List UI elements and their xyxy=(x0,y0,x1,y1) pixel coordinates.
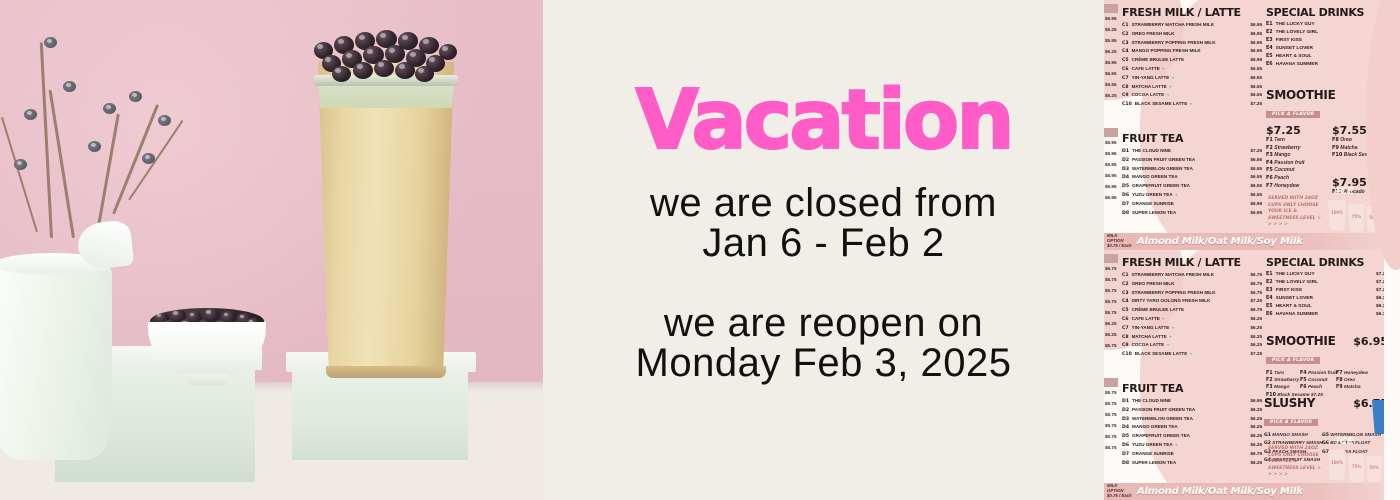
cropped-price: $6.25 xyxy=(1105,49,1117,54)
vacation-announcement-banner: Vacation we are closed from Jan 6 - Feb … xyxy=(0,0,1400,500)
menu-item-row: C6 CAFE LATTE ❧ $6.25 xyxy=(1122,315,1262,324)
menu-item-name: SUNSET LOVER xyxy=(1276,45,1313,53)
fresh-milk-latte-title: FRESH MILK / LATTE xyxy=(1122,256,1262,269)
menu-item-row: C10 BLACK SESAME LATTE ❧ $7.25 xyxy=(1122,100,1262,109)
menu-item-name: THE LUCKY GUY xyxy=(1276,21,1315,29)
menu-item-code: D8 xyxy=(1122,210,1129,218)
cropped-price: $5.75 xyxy=(1105,343,1117,348)
menu-item-code: C8 xyxy=(1122,334,1129,342)
milk-option-price: $0.75 / Each xyxy=(1107,493,1132,498)
leaf-icon: ❧ xyxy=(1162,65,1165,73)
menu-item-row: E4 SUNSET LOVER $6.75 xyxy=(1266,295,1388,303)
cropped-price: $6.25 xyxy=(1105,27,1117,32)
menu-item-name: THE LOVELY GIRL xyxy=(1276,279,1318,287)
menu-item-row: E3 FIRST KISS $7.25 xyxy=(1266,287,1388,295)
menu-item-name: BLACK SESAME LATTE xyxy=(1135,350,1188,358)
leaf-icon: ❧ xyxy=(1162,315,1165,323)
smoothie-title: SMOOTHIE xyxy=(1266,334,1335,348)
menu-item-row: C1 STRAWBERRY MATCHA FRESH MILK $6.75 xyxy=(1122,271,1262,280)
menu-item-code: D4 xyxy=(1122,424,1129,432)
menu-item-code: C7 xyxy=(1122,325,1129,333)
menu-board-photo: $6.95$6.25$5.95$6.25$5.95$6.55$6.55$6.25… xyxy=(1104,0,1400,500)
menu-item-price: $6.75 xyxy=(1251,450,1263,458)
smoothie-flavor: F1 Taro xyxy=(1266,370,1299,377)
smoothie-badge: PICK A FLAVOR xyxy=(1266,111,1320,118)
smoothie-flavor: F4 Passion fruit xyxy=(1266,160,1305,168)
menu-item-name: YUZU GREEN TEA xyxy=(1132,191,1173,199)
slushy-flavor: G1 MANGO SMASH xyxy=(1264,431,1323,439)
ice-level-cup: 75% xyxy=(1348,204,1365,232)
menu-item-code: D5 xyxy=(1122,183,1129,191)
menu-item-row: C3 STRAWBERRY POPPING FRESH MILK $6.95 xyxy=(1122,39,1262,48)
menu-item-name: STRAWBERRY POPPING FRESH MILK xyxy=(1132,289,1216,297)
menu-item-row: E6 HAVANA SUMMER $6.75 xyxy=(1266,311,1388,319)
menu-item-code: C5 xyxy=(1122,307,1129,315)
menu-item-price: $6.55 xyxy=(1251,165,1263,173)
menu-item-price: $6.55 xyxy=(1251,156,1263,164)
menu-item-code: D8 xyxy=(1122,460,1129,468)
menu-item-name: STRAWBERRY MATCHA FRESH MILK xyxy=(1132,271,1214,279)
menu-item-name: SUPER LEMON TEA xyxy=(1132,209,1176,217)
menu-board: $6.95$6.25$5.95$6.25$5.95$6.55$6.55$6.25… xyxy=(1104,0,1400,250)
fruit-tea-section: FRUIT TEA D1 THE CLOUD NINE $6.95 D2 PAS… xyxy=(1122,382,1262,467)
menu-item-row: D1 THE CLOUD NINE $6.95 xyxy=(1122,397,1262,406)
cropped-price: $6.25 xyxy=(1105,332,1117,337)
menu-item-code: D6 xyxy=(1122,192,1129,200)
menu-item-price: $6.55 xyxy=(1251,83,1263,91)
leaf-icon: ❧ xyxy=(1189,100,1192,108)
menu-item-name: GRAPEFRUIT GREEN TEA xyxy=(1132,182,1190,190)
cropped-price: $5.75 xyxy=(1105,401,1117,406)
menu-item-name: CAFE LATTE xyxy=(1132,65,1160,73)
menu-item-code: D2 xyxy=(1122,157,1129,165)
bubble-tea-cup xyxy=(318,62,454,372)
menu-item-name: SUPER LEMON TEA xyxy=(1132,459,1176,467)
menu-item-code: D1 xyxy=(1122,148,1129,156)
cropped-price-column: $6.95$6.25$5.95$6.25$5.95$6.55$6.55$6.25… xyxy=(1104,0,1118,232)
menu-item-price: $6.95 xyxy=(1251,200,1263,208)
menu-item-row: E1 THE LUCKY GUY $7.25 xyxy=(1266,21,1388,29)
menu-item-name: FIRST KISS xyxy=(1276,287,1302,295)
reopen-message: we are reopen on Monday Feb 3, 2025 xyxy=(636,303,1012,383)
cup-base xyxy=(326,366,446,378)
menu-item-row: D5 GRAPEFRUIT GREEN TEA $6.55 xyxy=(1122,182,1262,191)
menu-item-row: D2 PASSION FRUIT GREEN TEA $6.55 xyxy=(1122,156,1262,165)
menu-item-name: THE CLOUD NINE xyxy=(1132,147,1171,155)
menu-item-name: WATERMELON GREEN TEA xyxy=(1132,165,1193,173)
cropped-price: $5.95 xyxy=(1105,140,1117,145)
menu-item-code: E6 xyxy=(1266,311,1273,319)
milk-option-title: MILK OPTION xyxy=(1107,483,1123,493)
menu-item-price: $6.95 xyxy=(1251,397,1263,405)
menu-item-code: C5 xyxy=(1122,57,1129,65)
smoothie-flavor: F2 Strawberry xyxy=(1266,145,1305,153)
menu-item-price: $6.95 xyxy=(1251,30,1263,38)
cropped-price: $5.95 xyxy=(1105,60,1117,65)
product-photo xyxy=(0,0,543,500)
menu-item-price: $6.55 xyxy=(1251,74,1263,82)
menu-item-name: CRÈME BRULEE LATTE xyxy=(1132,56,1185,64)
smoothie-flavor: F7 Honeydew xyxy=(1336,370,1368,377)
cropped-price: $5.95 xyxy=(1105,173,1117,178)
smoothie-flavor: F3 Mango xyxy=(1266,384,1299,391)
menu-item-code: D3 xyxy=(1122,416,1129,424)
menu-item-price: $6.25 xyxy=(1251,315,1263,323)
menu-item-row: D3 WATERMELON GREEN TEA $6.55 xyxy=(1122,165,1262,174)
smoothie-flavor: F4 Passion fruit xyxy=(1300,370,1337,377)
menu-item-price: $6.55 xyxy=(1251,91,1263,99)
menu-item-price: $6.25 xyxy=(1251,459,1263,467)
menu-item-name: MANGO GREEN TEA xyxy=(1132,423,1178,431)
smoothie-flavor: F6 Peach xyxy=(1300,384,1337,391)
menu-item-row: C5 CRÈME BRULEE LATTE $6.95 xyxy=(1122,56,1262,65)
menu-item-name: COCOA LATTE xyxy=(1132,341,1165,349)
served-with-note: SERVED WITH 24OZ CUPS ONLY CHOOSE YOUR I… xyxy=(1268,446,1322,479)
closed-message: we are closed from Jan 6 - Feb 2 xyxy=(650,183,997,263)
menu-item-price: $7.25 xyxy=(1251,297,1263,305)
menu-item-price: $6.95 xyxy=(1251,56,1263,64)
cropped-price: $5.75 xyxy=(1105,412,1117,417)
menu-item-price: $6.55 xyxy=(1251,65,1263,73)
leaf-icon: ❧ xyxy=(1169,83,1172,91)
cropped-chip xyxy=(1104,378,1118,387)
menu-item-price: $6.25 xyxy=(1251,415,1263,423)
menu-item-row: C2 OREO FRESH MILK $6.95 xyxy=(1122,30,1262,39)
menu-item-row: D4 MANGO GREEN TEA $6.55 xyxy=(1122,173,1262,182)
menu-item-code: C3 xyxy=(1122,290,1129,298)
ice-label: ICE xyxy=(1336,436,1354,447)
menu-item-name: CRÈME BRULEE LATTE xyxy=(1132,306,1185,314)
cropped-chip xyxy=(1104,128,1118,137)
cropped-price: $5.75 xyxy=(1105,434,1117,439)
menu-item-row: E1 THE LUCKY GUY $7.25 xyxy=(1266,271,1388,279)
menu-item-price: $6.55 xyxy=(1251,182,1263,190)
menu-item-code: E1 xyxy=(1266,21,1273,29)
smoothie-flavor: F9 Matcha xyxy=(1336,384,1368,391)
menu-item-code: C2 xyxy=(1122,281,1129,289)
menu-item-code: C2 xyxy=(1122,31,1129,39)
menu-item-price: $6.95 xyxy=(1251,39,1263,47)
cropped-price: $5.95 xyxy=(1105,151,1117,156)
smoothie-price: $6.95 xyxy=(1353,335,1388,348)
menu-item-name: OREO FRESH MILK xyxy=(1132,30,1175,38)
menu-item-name: MANGO GREEN TEA xyxy=(1132,173,1178,181)
cropped-price: $5.75 xyxy=(1105,310,1117,315)
cropped-price: $5.95 xyxy=(1105,38,1117,43)
ice-level-cup: 100% xyxy=(1328,200,1346,230)
menu-item-name: MATCHA LATTE xyxy=(1132,333,1167,341)
cropped-price: $5.95 xyxy=(1105,195,1117,200)
cropped-price: $6.95 xyxy=(1105,16,1117,21)
cup-boba-topping xyxy=(308,20,464,82)
reopen-line-2: Monday Feb 3, 2025 xyxy=(636,343,1012,383)
menu-item-price: $7.25 xyxy=(1251,100,1263,108)
menu-item-row: E3 FIRST KISS $7.25 xyxy=(1266,37,1388,45)
pedestal-right xyxy=(292,368,468,460)
menu-item-row: C2 OREO FRESH MILK $6.75 xyxy=(1122,280,1262,289)
fruit-tea-section: FRUIT TEA D1 THE CLOUD NINE $7.25 D2 PAS… xyxy=(1122,132,1262,217)
menu-item-name: STRAWBERRY MATCHA FRESH MILK xyxy=(1132,21,1214,29)
ice-level-cup: 100% xyxy=(1328,450,1346,480)
menu-item-code: D7 xyxy=(1122,201,1129,209)
menu-item-row: C8 MATCHA LATTE ❧ $6.55 xyxy=(1122,83,1262,92)
reopen-line-1: we are reopen on xyxy=(664,301,983,345)
menu-item-code: D7 xyxy=(1122,451,1129,459)
menu-item-code: D6 xyxy=(1122,442,1129,450)
menu-item-code: C1 xyxy=(1122,22,1129,30)
menu-item-code: D3 xyxy=(1122,166,1129,174)
cropped-chip xyxy=(1104,4,1118,13)
menu-item-price: $7.25 xyxy=(1251,350,1263,358)
vacation-headline: Vacation xyxy=(635,86,1011,157)
menu-item-name: THE LUCKY GUY xyxy=(1276,271,1315,279)
leaf-icon: ❧ xyxy=(1175,441,1178,449)
leaf-icon: ❧ xyxy=(1169,333,1172,341)
menu-item-name: HAVANA SUMMER xyxy=(1276,311,1318,319)
menu-item-code: D2 xyxy=(1122,407,1129,415)
cropped-price: $5.75 xyxy=(1105,277,1117,282)
menu-item-price: $6.95 xyxy=(1251,209,1263,217)
menu-item-row: C1 STRAWBERRY MATCHA FRESH MILK $6.95 xyxy=(1122,21,1262,30)
menu-item-row: C10 BLACK SESAME LATTE ❧ $7.25 xyxy=(1122,350,1262,359)
menu-item-name: BLACK SESAME LATTE xyxy=(1135,100,1188,108)
menu-item-price: $6.55 xyxy=(1251,173,1263,181)
cropped-price: $5.75 xyxy=(1105,423,1117,428)
menu-item-price: $6.25 xyxy=(1251,406,1263,414)
menu-item-code: E2 xyxy=(1266,29,1273,37)
menu-item-row: C5 CRÈME BRULEE LATTE $6.75 xyxy=(1122,306,1262,315)
menu-item-price: $6.75 xyxy=(1251,289,1263,297)
menu-item-price: $7.25 xyxy=(1251,147,1263,155)
smoothie-flavor: F1 Taro xyxy=(1266,137,1305,145)
menu-item-row: E2 THE LOVELY GIRL $7.25 xyxy=(1266,279,1388,287)
menu-item-price: $6.75 xyxy=(1251,306,1263,314)
milk-option-title: MILK OPTION xyxy=(1107,233,1123,243)
menu-item-row: D7 ORANGE SUNRISE $6.95 xyxy=(1122,200,1262,209)
leaf-icon: ❧ xyxy=(1166,91,1169,99)
menu-item-code: C9 xyxy=(1122,92,1129,100)
menu-item-name: SUNSET LOVER xyxy=(1276,295,1313,303)
menu-item-row: C4 DIRTY TARO OOLONG FRESH MILK $7.25 xyxy=(1122,297,1262,306)
menu-item-row: D4 MANGO GREEN TEA $6.25 xyxy=(1122,423,1262,432)
leaf-icon: ❧ xyxy=(1166,341,1169,349)
slushy-title: SLUSHY xyxy=(1264,396,1315,410)
menu-item-name: YUZU GREEN TEA xyxy=(1132,441,1173,449)
menu-item-name: COCOA LATTE xyxy=(1132,91,1165,99)
cropped-price: $6.55 xyxy=(1105,71,1117,76)
menu-item-row: E5 HEART & SOUL $6.75 xyxy=(1266,303,1388,311)
menu-item-name: FIRST KISS xyxy=(1276,37,1302,45)
menu-item-code: E5 xyxy=(1266,303,1273,311)
menu-item-name: THE LOVELY GIRL xyxy=(1276,29,1318,37)
menu-item-code: C4 xyxy=(1122,48,1129,56)
menu-item-name: STRAWBERRY POPPING FRESH MILK xyxy=(1132,39,1216,47)
smoothie-tier-price: $7.25 xyxy=(1266,124,1305,137)
ice-label: ICE xyxy=(1336,186,1354,197)
cropped-price-column: $6.75$5.75$5.75$5.75$5.75$6.25$6.25$5.75… xyxy=(1104,250,1118,482)
fresh-milk-latte-title: FRESH MILK / LATTE xyxy=(1122,6,1262,19)
menu-item-name: WATERMELON GREEN TEA xyxy=(1132,415,1193,423)
smoothie-flavor: F8 Oreo xyxy=(1336,377,1368,384)
menu-item-price: $6.95 xyxy=(1251,47,1263,55)
cropped-price: $5.75 xyxy=(1105,445,1117,450)
menu-item-row: C8 MATCHA LATTE ❧ $6.25 xyxy=(1122,333,1262,342)
menu-item-name: HAVANA SUMMER xyxy=(1276,61,1318,69)
menu-item-code: C6 xyxy=(1122,66,1129,74)
cropped-price: $6.25 xyxy=(1105,321,1117,326)
menu-item-code: C9 xyxy=(1122,342,1129,350)
menu-item-code: D5 xyxy=(1122,433,1129,441)
smoothie-flavor: F5 Coconut xyxy=(1300,377,1337,384)
menu-item-row: D3 WATERMELON GREEN TEA $6.25 xyxy=(1122,415,1262,424)
menu-board: $6.75$5.75$5.75$5.75$5.75$6.25$6.25$5.75… xyxy=(1104,250,1400,500)
cropped-price: $5.95 xyxy=(1105,162,1117,167)
cropped-price: $5.75 xyxy=(1105,299,1117,304)
menu-item-name: ORANGE SUNRISE xyxy=(1132,200,1174,208)
menu-item-name: GRAPEFRUIT GREEN TEA xyxy=(1132,432,1190,440)
leaf-icon: ❧ xyxy=(1171,324,1174,332)
smoothie-flavor: F6 Peach xyxy=(1266,175,1305,183)
menu-item-price: $6.75 xyxy=(1251,280,1263,288)
smoothie-badge: PICK A FLAVOR xyxy=(1266,357,1320,364)
smoothie-flavor: F2 Strawberry xyxy=(1266,377,1299,384)
cropped-chip xyxy=(1104,254,1118,263)
menu-item-code: C3 xyxy=(1122,40,1129,48)
menu-item-code: C10 xyxy=(1122,101,1132,109)
menu-item-name: ORANGE SUNRISE xyxy=(1132,450,1174,458)
leaf-icon: ❧ xyxy=(1189,350,1192,358)
menu-item-code: C10 xyxy=(1122,351,1132,359)
menu-item-name: THE CLOUD NINE xyxy=(1132,397,1171,405)
menu-item-price: $6.75 xyxy=(1251,271,1263,279)
menu-item-row: C7 YIN-YANG LATTE ❧ $6.55 xyxy=(1122,74,1262,83)
menu-item-code: D4 xyxy=(1122,174,1129,182)
menu-item-name: MANGO POPPING FRESH MILK xyxy=(1132,47,1201,55)
menu-item-code: E2 xyxy=(1266,279,1273,287)
menu-item-code: C6 xyxy=(1122,316,1129,324)
menu-item-name: HEART & SOUL xyxy=(1276,53,1312,61)
menu-item-code: E1 xyxy=(1266,271,1273,279)
cropped-price: $5.75 xyxy=(1105,390,1117,395)
fruit-tea-title: FRUIT TEA xyxy=(1122,132,1262,145)
menu-item-code: E3 xyxy=(1266,287,1273,295)
menu-item-name: PASSION FRUIT GREEN TEA xyxy=(1132,156,1195,164)
closed-line-1: we are closed from xyxy=(650,181,997,225)
cropped-price: $6.55 xyxy=(1105,82,1117,87)
menu-item-price: $6.55 xyxy=(1251,191,1263,199)
served-with-note: SERVED WITH 24OZ CUPS ONLY CHOOSE YOUR I… xyxy=(1268,196,1322,229)
leaf-icon: ❧ xyxy=(1175,191,1178,199)
slushy-badge: PICK A FLAVOR xyxy=(1264,419,1318,426)
menu-item-code: C8 xyxy=(1122,84,1129,92)
menu-item-name: PASSION FRUIT GREEN TEA xyxy=(1132,406,1195,414)
menu-item-name: YIN-YANG LATTE xyxy=(1132,74,1170,82)
menu-item-row: C4 MANGO POPPING FRESH MILK $6.95 xyxy=(1122,47,1262,56)
milk-option-price: $0.75 / Each xyxy=(1107,243,1132,248)
menu-item-row: D8 SUPER LEMON TEA $6.95 xyxy=(1122,209,1262,218)
menu-item-row: C7 YIN-YANG LATTE ❧ $6.25 xyxy=(1122,324,1262,333)
menu-item-price: $6.25 xyxy=(1251,324,1263,332)
menu-item-name: DIRTY TARO OOLONG FRESH MILK xyxy=(1132,297,1211,305)
cropped-price: $5.75 xyxy=(1105,288,1117,293)
menu-item-name: HEART & SOUL xyxy=(1276,303,1312,311)
boba-bowl-foot xyxy=(186,374,228,386)
menu-item-price: $6.25 xyxy=(1251,423,1263,431)
menu-item-row: C9 COCOA LATTE ❧ $6.25 xyxy=(1122,341,1262,350)
menu-item-row: C3 STRAWBERRY POPPING FRESH MILK $6.75 xyxy=(1122,289,1262,298)
menu-item-row: D1 THE CLOUD NINE $7.25 xyxy=(1122,147,1262,156)
ice-level-cup: 50% xyxy=(1366,456,1382,482)
leaf-icon: ❧ xyxy=(1171,74,1174,82)
ice-level-cup: 75% xyxy=(1348,454,1365,482)
adjacent-board-sliver xyxy=(1384,0,1400,500)
menu-item-price: $6.25 xyxy=(1251,341,1263,349)
fruit-tea-title: FRUIT TEA xyxy=(1122,382,1262,395)
menu-item-row: D6 YUZU GREEN TEA ❧ $6.55 xyxy=(1122,191,1262,200)
smoothie-flavor: F3 Mango xyxy=(1266,152,1305,160)
cropped-price: $6.25 xyxy=(1105,93,1117,98)
special-drinks-title: SPECIAL DRINKS xyxy=(1266,256,1388,269)
cropped-price: $6.75 xyxy=(1105,266,1117,271)
menu-item-row: C6 CAFE LATTE ❧ $6.55 xyxy=(1122,65,1262,74)
menu-item-price: $6.25 xyxy=(1251,441,1263,449)
menu-item-price: $6.95 xyxy=(1251,21,1263,29)
menu-item-code: C1 xyxy=(1122,272,1129,280)
closed-line-2: Jan 6 - Feb 2 xyxy=(650,223,997,263)
menu-item-row: D2 PASSION FRUIT GREEN TEA $6.25 xyxy=(1122,406,1262,415)
menu-item-name: OREO FRESH MILK xyxy=(1132,280,1175,288)
milk-option-list: Almond Milk/Oat Milk/Soy Milk xyxy=(1137,236,1303,247)
menu-item-code: E3 xyxy=(1266,37,1273,45)
milk-option-bar: MILK OPTION $0.75 / Each Almond Milk/Oat… xyxy=(1104,483,1400,500)
menu-item-code: E4 xyxy=(1266,45,1273,53)
menu-item-row: E2 THE LOVELY GIRL $7.25 xyxy=(1266,29,1388,37)
menu-item-code: E6 xyxy=(1266,61,1273,69)
milk-option-label: MILK OPTION $0.75 / Each xyxy=(1107,484,1133,499)
menu-item-code: C7 xyxy=(1122,75,1129,83)
menu-item-price: $6.25 xyxy=(1251,432,1263,440)
menu-item-code: E4 xyxy=(1266,295,1273,303)
menu-item-row: D7 ORANGE SUNRISE $6.75 xyxy=(1122,450,1262,459)
milk-option-list: Almond Milk/Oat Milk/Soy Milk xyxy=(1137,486,1303,497)
cropped-price: $5.95 xyxy=(1105,184,1117,189)
milk-option-bar: MILK OPTION $0.75 / Each Almond Milk/Oat… xyxy=(1104,233,1400,250)
fresh-milk-latte-section: FRESH MILK / LATTE C1 STRAWBERRY MATCHA … xyxy=(1122,256,1262,359)
menu-item-code: C4 xyxy=(1122,298,1129,306)
ceramic-vase xyxy=(0,260,112,460)
menu-item-code: D1 xyxy=(1122,398,1129,406)
announcement-text-panel: Vacation we are closed from Jan 6 - Feb … xyxy=(543,0,1104,500)
special-drinks-section: SPECIAL DRINKS E1 THE LUCKY GUY $7.25 E2… xyxy=(1266,256,1388,319)
special-drinks-title: SPECIAL DRINKS xyxy=(1266,6,1388,19)
menu-item-name: YIN-YANG LATTE xyxy=(1132,324,1170,332)
menu-item-row: C9 COCOA LATTE ❧ $6.55 xyxy=(1122,91,1262,100)
menu-item-code: E5 xyxy=(1266,53,1273,61)
menu-item-row: D8 SUPER LEMON TEA $6.25 xyxy=(1122,459,1262,468)
menu-item-price: $6.25 xyxy=(1251,333,1263,341)
milk-option-label: MILK OPTION $0.75 / Each xyxy=(1107,234,1133,249)
smoothie-flavor: F7 Honeydew xyxy=(1266,183,1305,191)
menu-item-row: D5 GRAPEFRUIT GREEN TEA $6.25 xyxy=(1122,432,1262,441)
menu-item-name: MATCHA LATTE xyxy=(1132,83,1167,91)
smoothie-flavor: F5 Coconut xyxy=(1266,167,1305,175)
fresh-milk-latte-section: FRESH MILK / LATTE C1 STRAWBERRY MATCHA … xyxy=(1122,6,1262,109)
menu-item-row: D6 YUZU GREEN TEA ❧ $6.25 xyxy=(1122,441,1262,450)
menu-item-name: CAFE LATTE xyxy=(1132,315,1160,323)
